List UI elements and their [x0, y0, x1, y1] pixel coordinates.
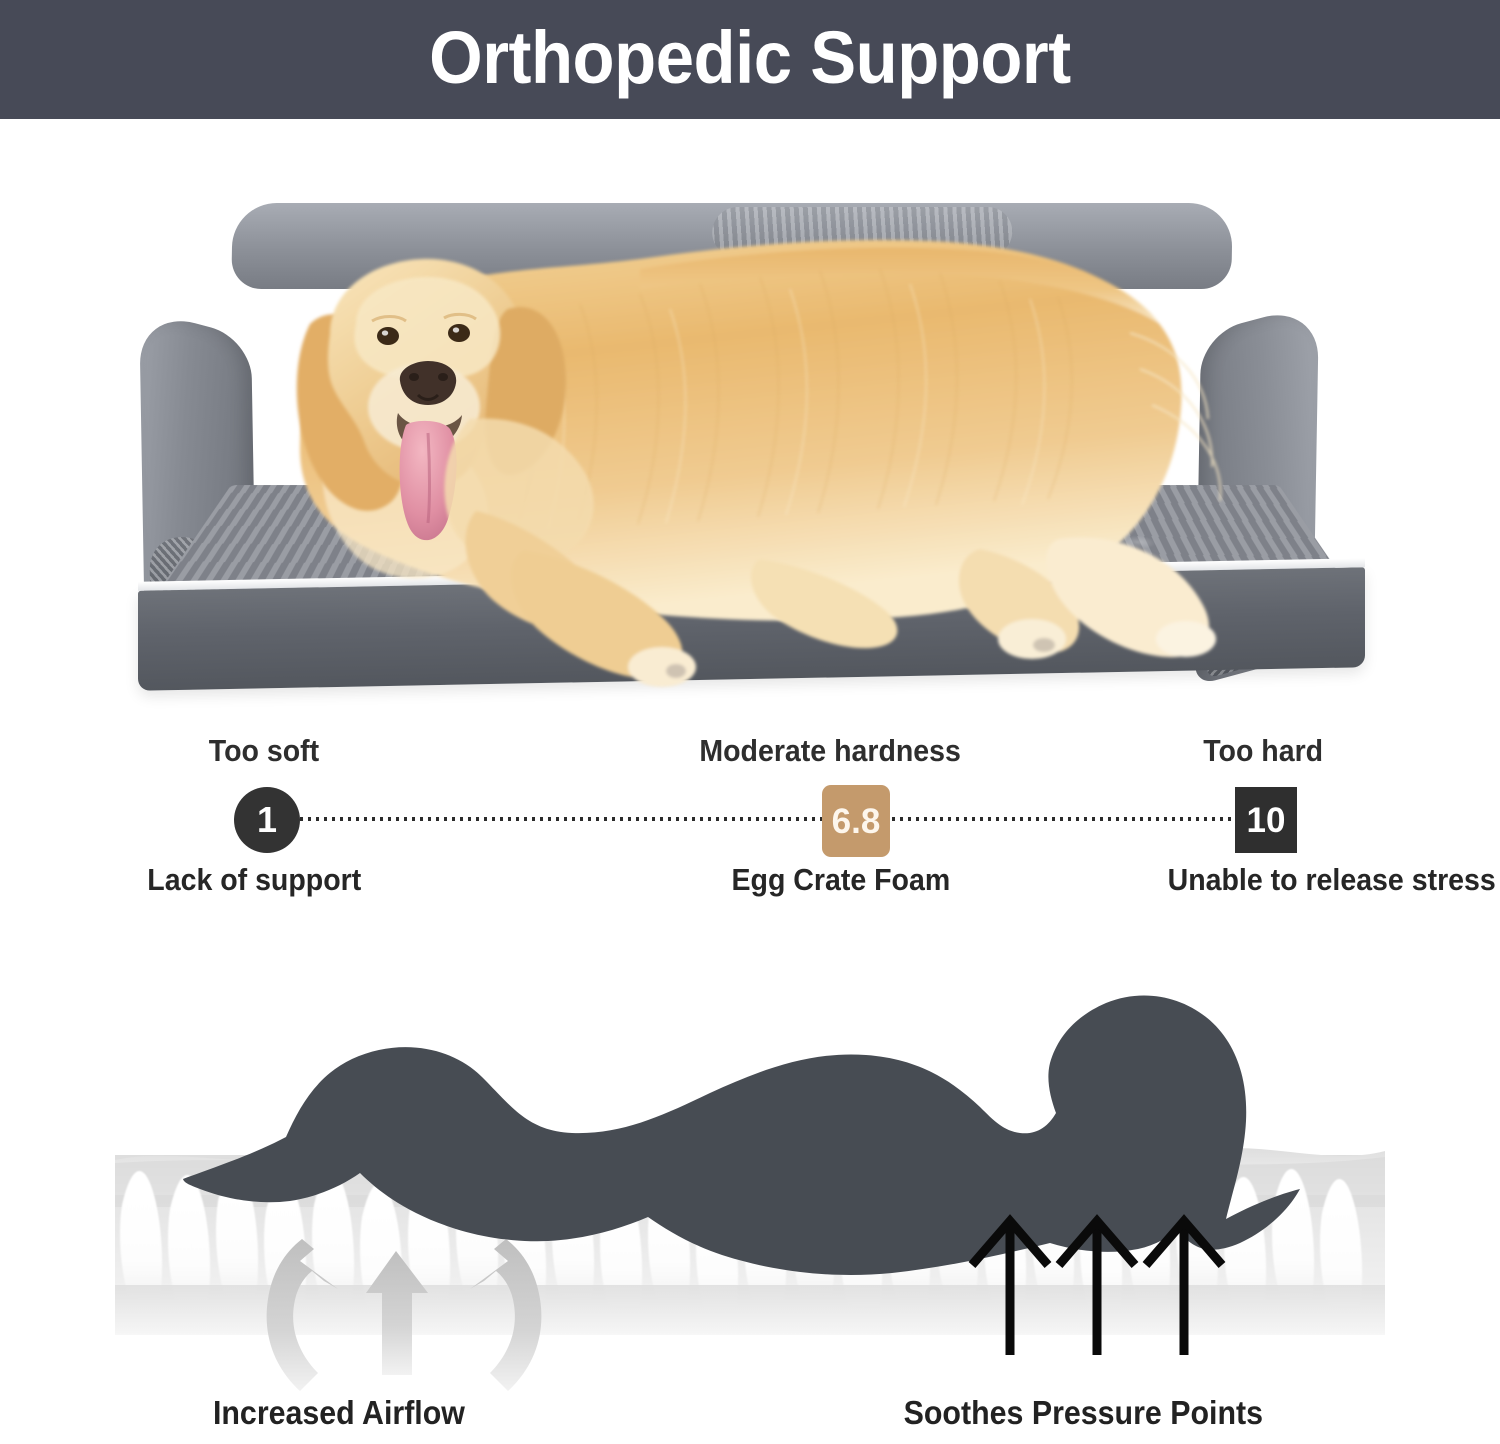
caption-increased-airflow: Increased Airflow: [213, 1388, 465, 1438]
foam-cross-section-diagram: [0, 955, 1500, 1444]
scale-label-too-soft: Too soft: [209, 729, 319, 773]
scale-top-labels: Too soft Moderate hardness Too hard: [0, 729, 1500, 773]
scale-dotted-track: [300, 817, 1240, 821]
scale-label-too-hard: Too hard: [1203, 729, 1323, 773]
scale-label-moderate-hardness: Moderate hardness: [699, 729, 961, 773]
pressure-arrows-icon: [972, 1221, 1222, 1355]
foam-captions: Increased Airflow Soothes Pressure Point…: [0, 1388, 1500, 1444]
caption-soothes-pressure-points: Soothes Pressure Points: [904, 1388, 1263, 1438]
scale-badge-1: 1: [234, 787, 300, 853]
scale-sublabel-unable-to-release-stress: Unable to release stress: [1168, 859, 1389, 901]
product-photo: [0, 119, 1500, 729]
scale-badge-6-8: 6.8: [822, 785, 890, 857]
page-title: Orthopedic Support: [429, 21, 1071, 95]
scale-sublabel-egg-crate-foam: Egg Crate Foam: [732, 859, 951, 901]
header-band: Orthopedic Support: [0, 0, 1500, 119]
scale-badge-10: 10: [1235, 787, 1297, 853]
scale-sublabel-lack-of-support: Lack of support: [147, 859, 361, 901]
golden-retriever-photo: [0, 119, 1500, 729]
